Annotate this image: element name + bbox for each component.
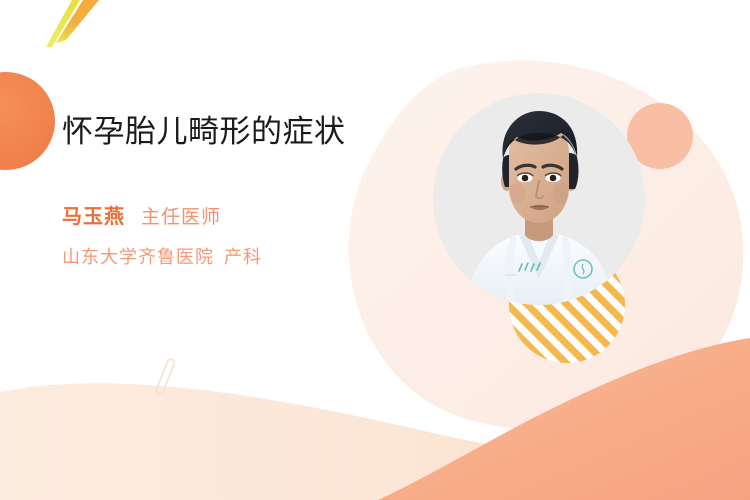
- page-title: 怀孕胎儿畸形的症状: [62, 112, 407, 152]
- avatar: [433, 93, 645, 305]
- doctor-portrait-illustration: [433, 93, 645, 305]
- hospital-department: 产科: [224, 247, 262, 267]
- text-block: 怀孕胎儿畸形的症状 马玉燕主任医师 山东大学齐鲁医院产科: [62, 112, 422, 269]
- hospital-name: 山东大学齐鲁医院: [62, 247, 214, 267]
- hospital-line: 山东大学齐鲁医院产科: [62, 243, 422, 269]
- doctor-topic-card: 怀孕胎儿畸形的症状 马玉燕主任医师 山东大学齐鲁医院产科: [0, 0, 750, 500]
- doctor-name: 马玉燕: [62, 206, 125, 228]
- diagonal-stripes-decor: [46, 0, 99, 47]
- orange-circle-decor: [0, 72, 55, 170]
- portrait-circle: [433, 93, 645, 305]
- doctor-line: 马玉燕主任医师: [62, 200, 422, 229]
- doctor-title: 主任医师: [141, 207, 221, 228]
